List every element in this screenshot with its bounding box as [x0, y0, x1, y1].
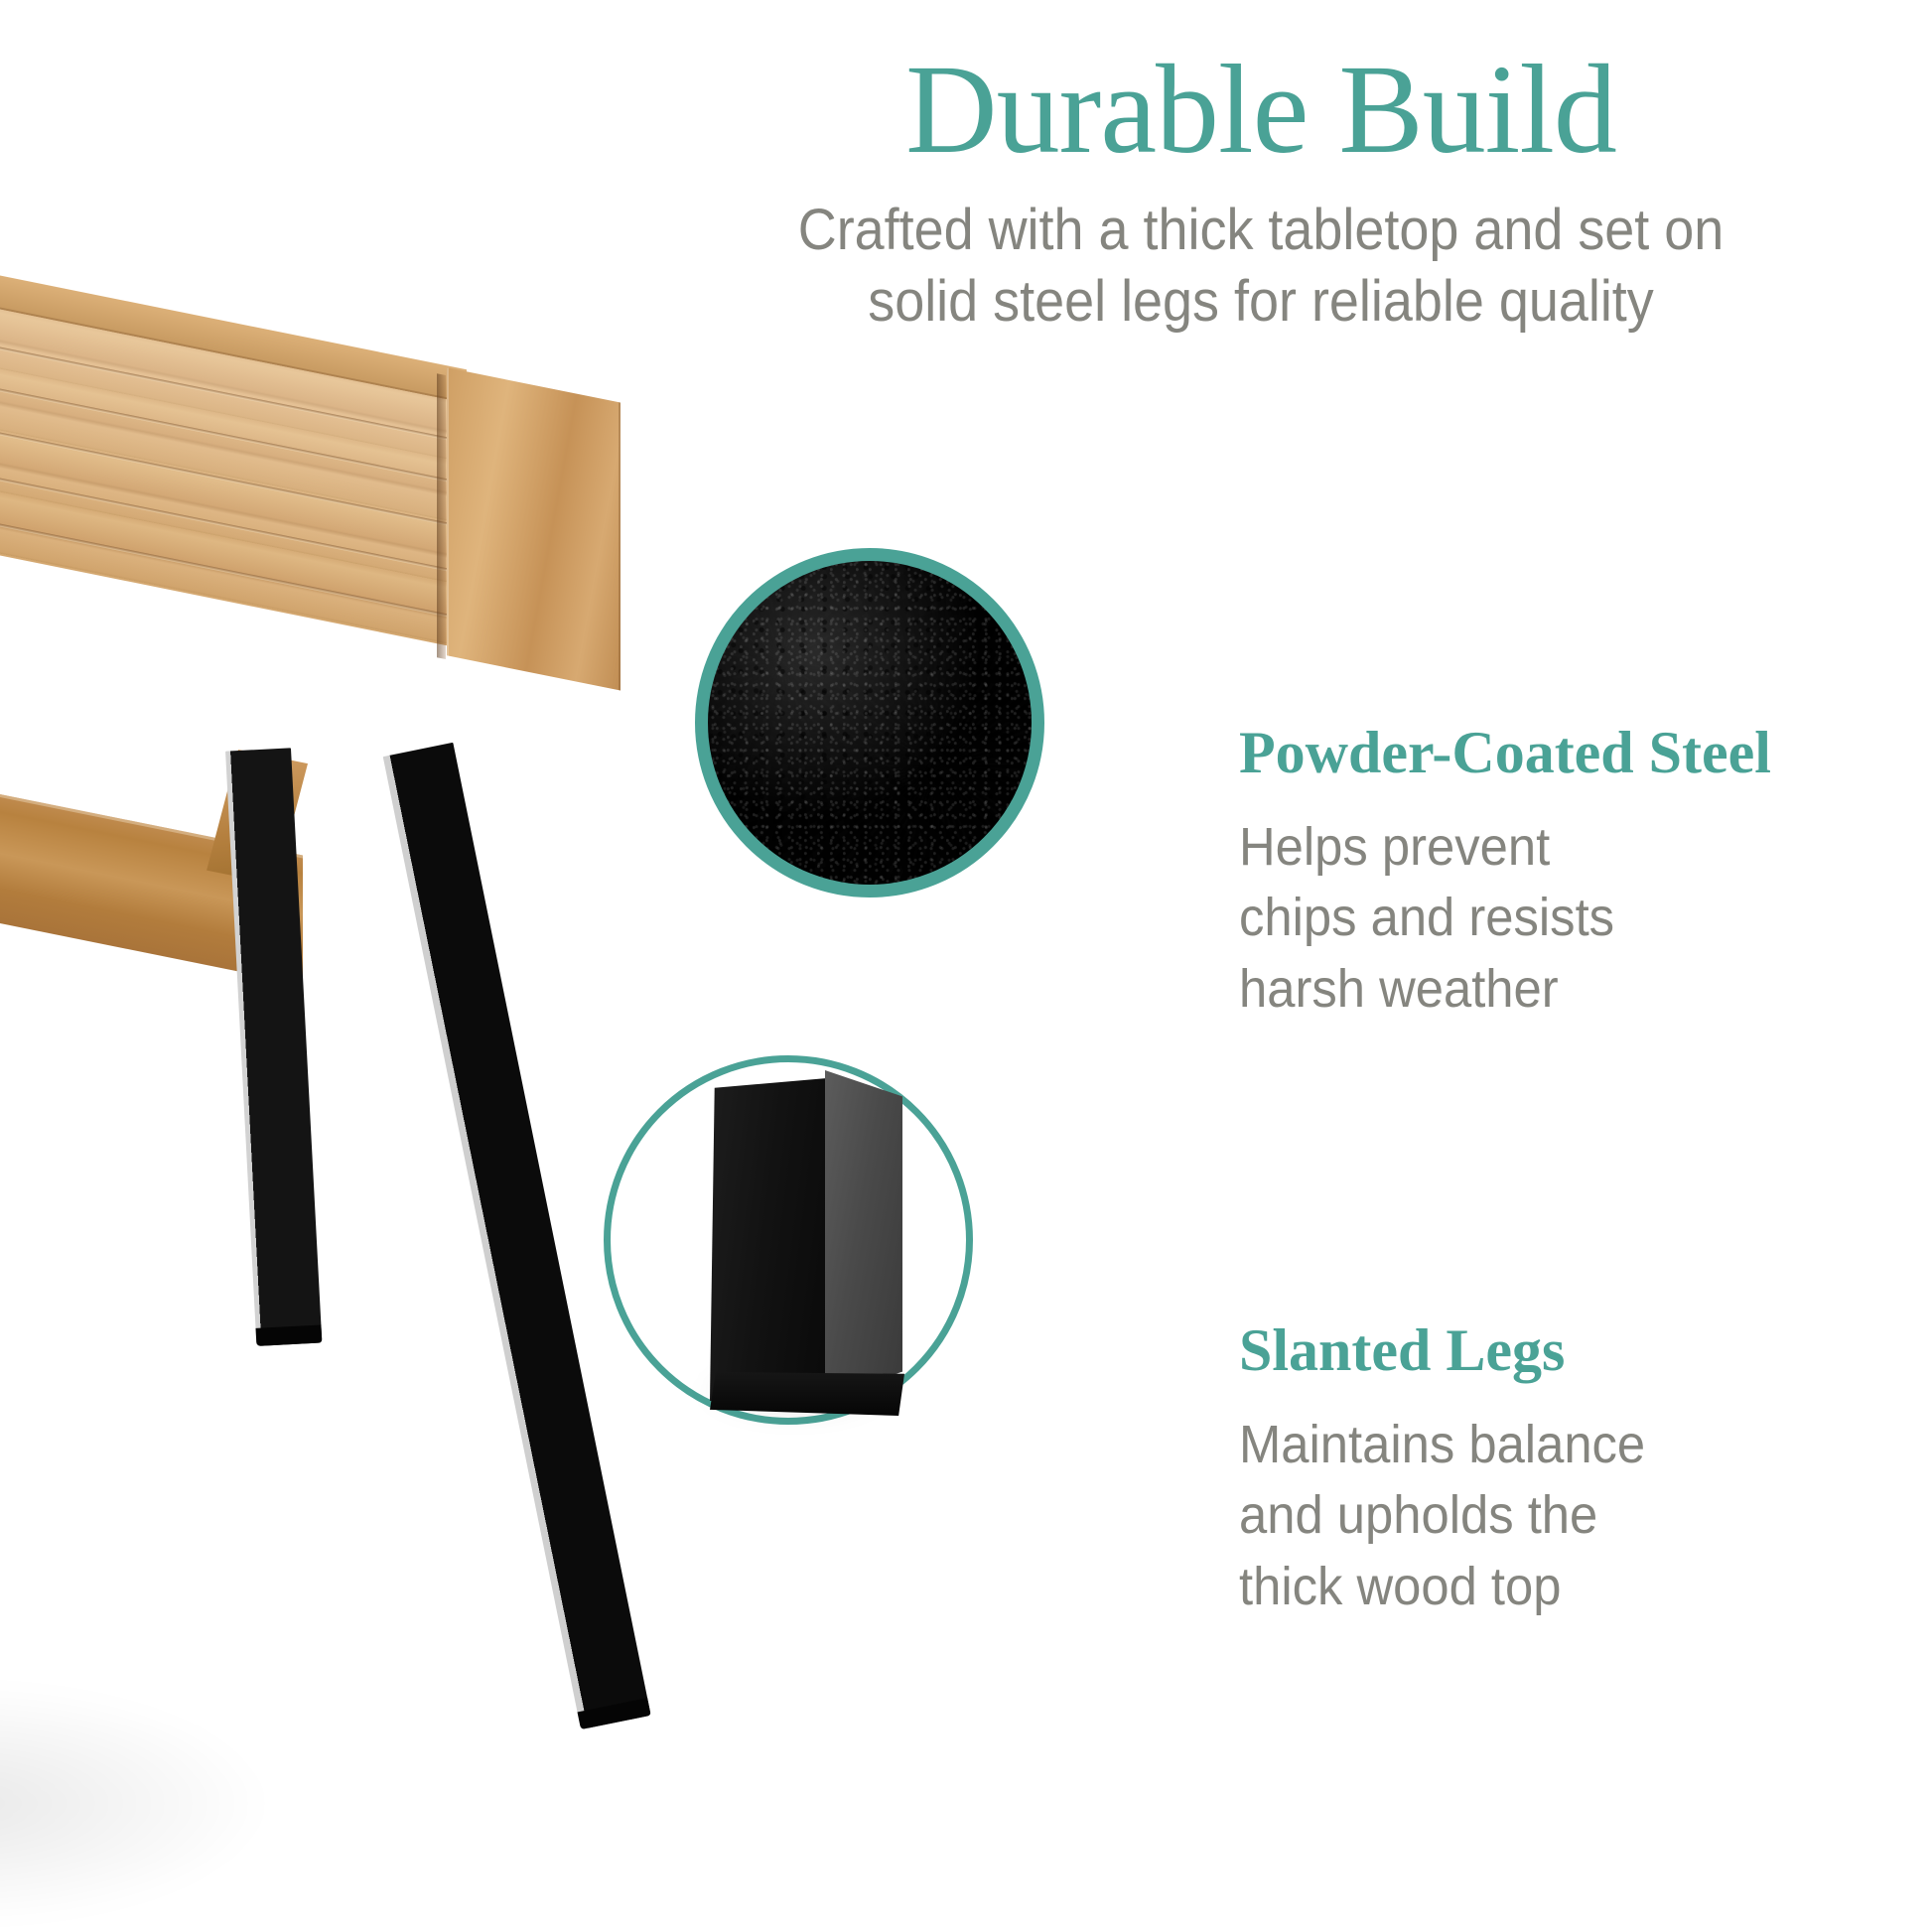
feature-body-powder-coated-steel: Helps prevent chips and resists harsh we… [1239, 812, 1892, 1025]
table-leg-back [225, 748, 322, 1346]
powder-coat-texture [695, 548, 1044, 897]
feature-body-line-1: Helps prevent [1239, 812, 1892, 883]
feature-body-slanted-legs: Maintains balance and upholds the thick … [1239, 1410, 1892, 1622]
product-photo-table [0, 194, 675, 1742]
feature-body-line-3: thick wood top [1239, 1552, 1892, 1622]
leg-foot-front [578, 1698, 651, 1729]
floor-shadow [0, 1603, 437, 1932]
feature-text-slanted-legs: Slanted Legs Maintains balance and uphol… [1239, 1320, 1932, 1622]
feature-heading-slanted-legs: Slanted Legs [1239, 1320, 1932, 1380]
feature-body-line-1: Maintains balance [1239, 1410, 1892, 1480]
leg-closeup-base [710, 1372, 904, 1416]
page-title: Durable Build [616, 46, 1906, 173]
feature-heading-powder-coated-steel: Powder-Coated Steel [1239, 723, 1932, 782]
feature-text-powder-coated-steel: Powder-Coated Steel Helps prevent chips … [1239, 723, 1932, 1025]
tabletop-surface [0, 194, 675, 811]
slanted-leg-closeup-image [710, 1064, 913, 1412]
wood-frame-groove [437, 373, 446, 659]
powder-coat-swatch-circle-icon [695, 548, 1044, 897]
marketing-infographic: Durable Build Crafted with a thick table… [0, 0, 1932, 1932]
subtitle-line-2: solid steel legs for reliable quality [868, 269, 1654, 334]
leg-closeup-front-face [710, 1078, 827, 1401]
leg-closeup-side-face [825, 1070, 902, 1398]
wood-frame-side-rail [447, 367, 621, 690]
feature-body-line-2: chips and resists [1239, 883, 1892, 953]
feature-body-line-2: and upholds the [1239, 1480, 1892, 1551]
page-subtitle: Crafted with a thick tabletop and set on… [661, 195, 1862, 338]
feature-body-line-3: harsh weather [1239, 954, 1892, 1025]
leg-foot-back [256, 1324, 323, 1345]
header: Durable Build Crafted with a thick table… [616, 46, 1906, 338]
subtitle-line-1: Crafted with a thick tabletop and set on [798, 198, 1725, 262]
